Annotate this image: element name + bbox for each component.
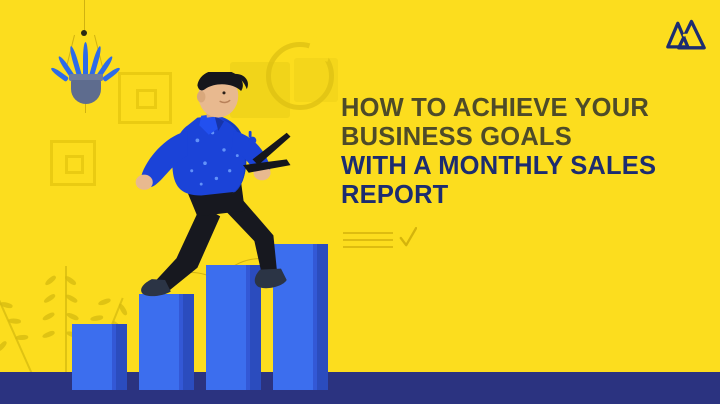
- promo-banner: HOW TO ACHIEVE YOUR BUSINESS GOALS WITH …: [0, 0, 720, 404]
- planter-cord: [84, 0, 85, 32]
- chart-bar-1: [72, 324, 127, 390]
- chart-bar-2: [139, 294, 194, 390]
- bar-side-dark: [116, 324, 127, 390]
- bar-side-dark: [183, 294, 194, 390]
- checklist-line: [343, 246, 393, 248]
- planter-leaf: [83, 42, 88, 76]
- planter-hanger-right: [94, 35, 104, 70]
- planter-leaf: [89, 46, 102, 77]
- picture-frame-square-small-icon: [50, 140, 96, 186]
- planter-knot: [81, 30, 87, 36]
- soft-square-block-2: [294, 58, 338, 102]
- mountain-m-logo-icon: [666, 16, 706, 56]
- planter-leaf: [50, 66, 69, 82]
- title-line-1: HOW TO ACHIEVE YOUR: [341, 94, 693, 123]
- checkmark-icon: [399, 227, 417, 249]
- planter-rim: [69, 74, 103, 81]
- checklist-line: [343, 232, 393, 234]
- bar-side-dark: [317, 244, 328, 390]
- planter-leaf: [57, 55, 76, 79]
- page-title: HOW TO ACHIEVE YOUR BUSINESS GOALS WITH …: [341, 94, 693, 210]
- checklist-line: [343, 239, 393, 241]
- planter-bottom-tail: [85, 104, 86, 113]
- title-line-4: REPORT: [341, 181, 693, 210]
- running-businessman: [110, 72, 300, 300]
- title-line-2: BUSINESS GOALS: [341, 123, 693, 152]
- title-line-3: WITH A MONTHLY SALES: [341, 152, 693, 181]
- planter-hanger-left: [65, 35, 75, 70]
- checklist-with-checkmark-icon: [343, 227, 423, 253]
- planter-leaf: [69, 46, 82, 77]
- planter-pot: [71, 80, 101, 104]
